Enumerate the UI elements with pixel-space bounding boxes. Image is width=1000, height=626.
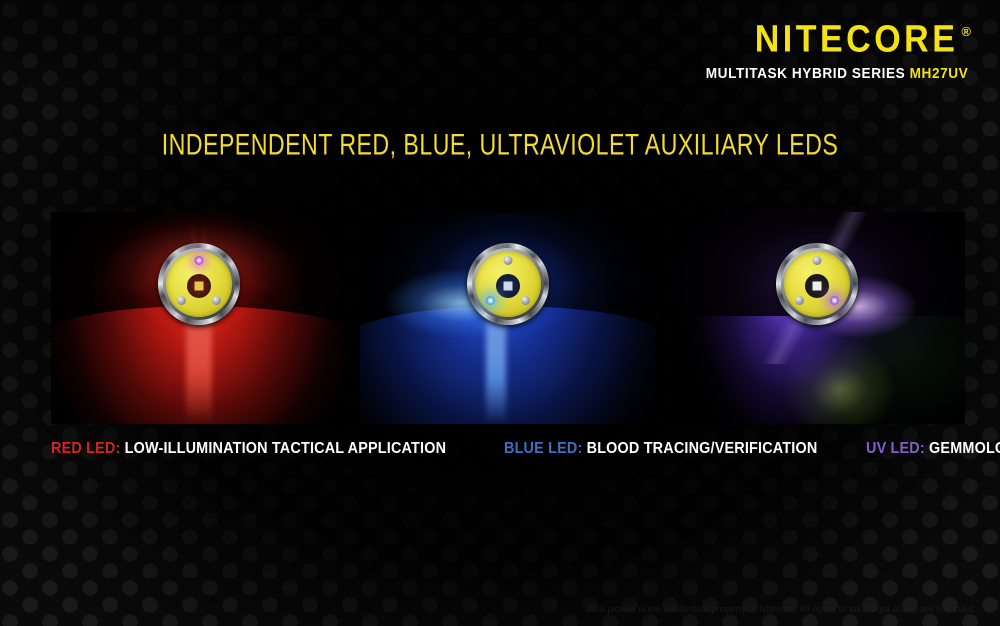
emitter-die: [813, 281, 822, 290]
panel-row: [51, 212, 965, 424]
caption-red-description: LOW-ILLUMINATION TACTICAL APPLICATION: [125, 440, 447, 457]
series-label: MULTITASK HYBRID SERIES: [705, 66, 905, 82]
promo-image-stage: NITECORE® MULTITASK HYBRID SERIES MH27UV…: [0, 0, 1000, 626]
uv-lit-floor: [670, 316, 965, 424]
model-label: MH27UV: [909, 66, 968, 82]
auxiliary-led-right: [521, 296, 530, 305]
caption-uv-label: UV LED:: [866, 440, 925, 457]
auxiliary-led-top: [503, 256, 512, 265]
auxiliary-led-left: [795, 296, 804, 305]
copyright-notice: This picture is the intellectual propert…: [0, 604, 976, 614]
caption-blue-led: BLUE LED: BLOOD TRACING/VERIFICATION: [504, 440, 817, 464]
caption-red-label: RED LED:: [51, 440, 120, 457]
main-emitter: [805, 274, 829, 298]
auxiliary-led-left: [486, 296, 495, 305]
panel-blue-led: [360, 212, 655, 424]
auxiliary-led-left: [177, 296, 186, 305]
caption-uv-description: GEMMOLOGY/FORENSIC SCIENCE: [929, 440, 1000, 457]
caption-blue-label: BLUE LED:: [504, 440, 582, 457]
caption-row: RED LED: LOW-ILLUMINATION TACTICAL APPLI…: [51, 440, 965, 464]
emitter-die: [194, 281, 203, 290]
main-emitter: [496, 274, 520, 298]
caption-red-led: RED LED: LOW-ILLUMINATION TACTICAL APPLI…: [51, 440, 446, 464]
main-emitter: [187, 274, 211, 298]
auxiliary-led-right: [830, 296, 839, 305]
panel-uv-led: [670, 212, 965, 424]
flashlight-head-blue: [467, 243, 549, 325]
auxiliary-led-right: [212, 296, 221, 305]
auxiliary-led-top: [194, 256, 203, 265]
emitter-die: [503, 281, 512, 290]
page-title: INDEPENDENT RED, BLUE, ULTRAVIOLET AUXIL…: [70, 128, 930, 162]
flashlight-head-uv: [776, 243, 858, 325]
panel-red-led: [51, 212, 346, 424]
caption-blue-description: BLOOD TRACING/VERIFICATION: [587, 440, 818, 457]
flashlight-head-red: [158, 243, 240, 325]
brand-wordmark-row: NITECORE®: [689, 24, 968, 58]
brand-series-row: MULTITASK HYBRID SERIES MH27UV: [705, 67, 968, 82]
caption-uv-led: UV LED: GEMMOLOGY/FORENSIC SCIENCE: [866, 440, 1000, 464]
auxiliary-led-top: [813, 256, 822, 265]
brand-logo-block: NITECORE® MULTITASK HYBRID SERIES MH27UV: [689, 24, 968, 82]
registered-trademark-icon: ®: [961, 25, 971, 38]
nitecore-wordmark: NITECORE: [755, 20, 959, 58]
